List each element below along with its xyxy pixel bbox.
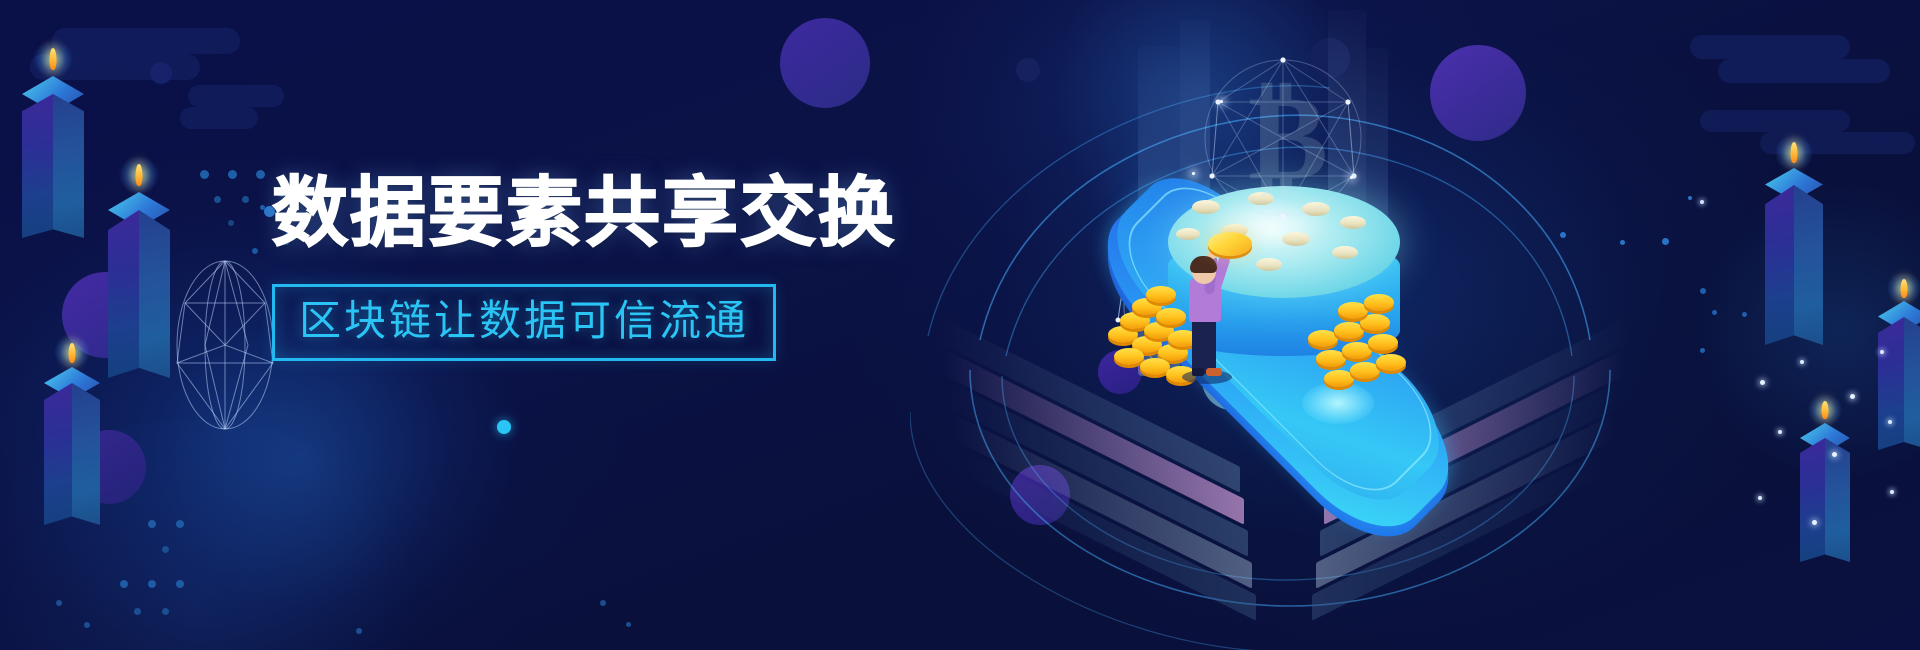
banner-root: ₿ <box>0 0 1920 650</box>
person-figure <box>1176 230 1266 390</box>
sparkle-icon <box>1220 100 1223 103</box>
subtitle-box: 区块链让数据可信流通 <box>272 284 776 361</box>
wireframe-sphere-icon <box>160 258 290 433</box>
pillar-left-1 <box>22 62 84 238</box>
pillar-left-3 <box>44 355 100 525</box>
glow-well-right <box>1302 382 1374 424</box>
pillar-right-3 <box>1878 290 1920 450</box>
pillar-right-2 <box>1800 412 1850 562</box>
accent-dot-subtitle <box>497 420 511 434</box>
page-title: 数据要素共享交换 <box>272 176 896 252</box>
copy-block: 数据要素共享交换 区块链让数据可信流通 <box>272 176 896 361</box>
sparkle-icon <box>1350 176 1353 179</box>
purple-circle-large-top <box>780 18 870 108</box>
blockchain-illustration: ₿ <box>930 0 1630 650</box>
subtitle-text: 区块链让数据可信流通 <box>299 299 749 344</box>
pillar-right-1 <box>1765 155 1823 345</box>
floating-coin <box>1332 246 1358 259</box>
bitcoin-symbol-icon: ₿ <box>1248 78 1328 198</box>
cloud-shape-2 <box>180 85 290 131</box>
sparkle-icon <box>1192 172 1195 175</box>
dark-circle-small-left <box>150 62 172 84</box>
cloud-shape-3 <box>1690 35 1890 87</box>
